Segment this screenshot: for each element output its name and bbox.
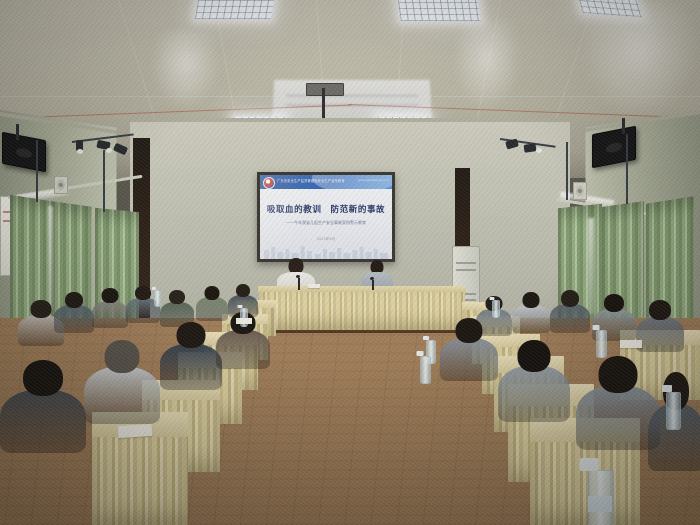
head-table bbox=[258, 286, 466, 330]
attendee-foreground bbox=[0, 360, 86, 450]
wall-exhaust-fan bbox=[573, 182, 587, 200]
bottle-cap bbox=[490, 297, 495, 300]
conduit-pipe bbox=[103, 150, 105, 212]
slide-subtitle: ——今年我省几起生产安全事故案例警示教育 bbox=[260, 220, 392, 226]
water-bottle bbox=[492, 300, 500, 318]
attendee-head bbox=[65, 292, 83, 308]
attendee-head bbox=[604, 294, 624, 312]
attendee bbox=[92, 288, 128, 326]
attendee-foreground bbox=[84, 340, 160, 422]
bottle-cap bbox=[662, 385, 672, 392]
attendee-torso bbox=[84, 367, 160, 424]
attendee-head bbox=[518, 340, 551, 372]
ceiling-highlight bbox=[452, 20, 522, 110]
attendee bbox=[550, 290, 590, 332]
ceiling-highlight bbox=[150, 30, 220, 110]
attendee bbox=[636, 300, 684, 350]
attendee-head bbox=[523, 292, 540, 308]
conduit-pipe bbox=[626, 134, 628, 204]
attendee-head bbox=[649, 300, 671, 320]
attendee-head bbox=[23, 360, 63, 396]
attendee bbox=[440, 318, 498, 380]
microphone bbox=[372, 280, 374, 290]
water-bottle bbox=[666, 392, 681, 430]
cornice bbox=[128, 118, 574, 122]
ceiling-light-panel bbox=[194, 0, 277, 20]
attendee-head bbox=[135, 286, 151, 300]
document-paper bbox=[118, 424, 153, 438]
speaker-mount bbox=[622, 118, 625, 134]
document-paper bbox=[308, 284, 320, 288]
attendee-torso bbox=[636, 317, 684, 352]
attendee-head bbox=[169, 290, 185, 304]
wall-exhaust-fan bbox=[54, 176, 68, 194]
conduit-pipe bbox=[36, 140, 38, 202]
attendee-head bbox=[561, 290, 579, 307]
attendee-head bbox=[205, 286, 220, 300]
water-bottle bbox=[596, 330, 607, 358]
slide-skyline-graphic bbox=[260, 243, 392, 259]
projection-screen[interactable]: 广东省安全生产监督管理局安全生产宣传教育 www.gdsafety.gov.cn… bbox=[260, 175, 392, 259]
spotlight-head bbox=[536, 148, 542, 153]
attendee-torso bbox=[550, 304, 590, 333]
attendee-head bbox=[31, 300, 52, 318]
slide-banner-url: www.gdsafety.gov.cn bbox=[358, 178, 389, 182]
bottle-cap bbox=[580, 458, 599, 471]
water-bottle bbox=[420, 356, 431, 384]
conference-room-photo: 广东省安全生产监督管理局安全生产宣传教育 www.gdsafety.gov.cn… bbox=[0, 0, 700, 525]
attendee bbox=[160, 322, 222, 388]
track-spotlight bbox=[524, 143, 537, 153]
ceiling-highlight bbox=[580, 0, 700, 120]
speaker-mount bbox=[16, 124, 19, 140]
attendee-head bbox=[236, 284, 250, 297]
conduit-pipe bbox=[566, 142, 568, 200]
window-light bbox=[48, 206, 53, 311]
attendee bbox=[54, 292, 94, 332]
emblem-logo bbox=[263, 177, 275, 189]
attendee-torso bbox=[440, 338, 498, 381]
microphone bbox=[298, 278, 300, 290]
spotlight-head bbox=[106, 148, 112, 153]
microphone-head bbox=[370, 277, 374, 280]
attendee-head bbox=[105, 340, 140, 373]
slide-banner-text: 广东省安全生产监督管理局安全生产宣传教育 bbox=[277, 178, 345, 183]
head-table-skirt bbox=[259, 292, 465, 330]
attendee-torso bbox=[160, 344, 222, 390]
spotlight-head bbox=[77, 149, 83, 154]
bottle-label bbox=[588, 496, 612, 512]
slide-date: 2015年9月 bbox=[260, 237, 392, 242]
attendee-torso bbox=[0, 390, 86, 453]
bottle-cap bbox=[238, 305, 243, 308]
attendee-torso bbox=[512, 305, 550, 333]
bottle-cap bbox=[417, 351, 424, 356]
microphone-head bbox=[296, 275, 300, 278]
water-bottle bbox=[154, 290, 161, 307]
bottle-cap bbox=[152, 287, 156, 290]
attendee-torso bbox=[54, 305, 94, 333]
document-paper bbox=[236, 318, 252, 324]
projection-screen-frame: 广东省安全生产监督管理局安全生产宣传教育 www.gdsafety.gov.cn… bbox=[257, 172, 395, 262]
attendee-head bbox=[177, 322, 206, 348]
attendee-torso bbox=[498, 366, 570, 422]
projector-mount-plate bbox=[306, 83, 344, 96]
slide-banner: 广东省安全生产监督管理局安全生产宣传教育 www.gdsafety.gov.cn bbox=[260, 175, 392, 189]
attendee-head bbox=[599, 356, 638, 393]
bottle-cap bbox=[593, 325, 600, 330]
attendee-head bbox=[102, 288, 119, 303]
slide-title: 吸取血的教训 防范新的事故 bbox=[260, 203, 392, 215]
bottle-cap bbox=[423, 336, 429, 340]
attendee bbox=[160, 290, 194, 326]
attendee bbox=[512, 292, 550, 332]
attendee-head bbox=[456, 318, 483, 343]
ceiling-light-panel bbox=[396, 0, 482, 22]
document-paper bbox=[620, 340, 642, 348]
attendee-torso bbox=[92, 301, 128, 328]
attendee-foreground bbox=[498, 340, 570, 420]
attendee-torso bbox=[216, 330, 270, 369]
